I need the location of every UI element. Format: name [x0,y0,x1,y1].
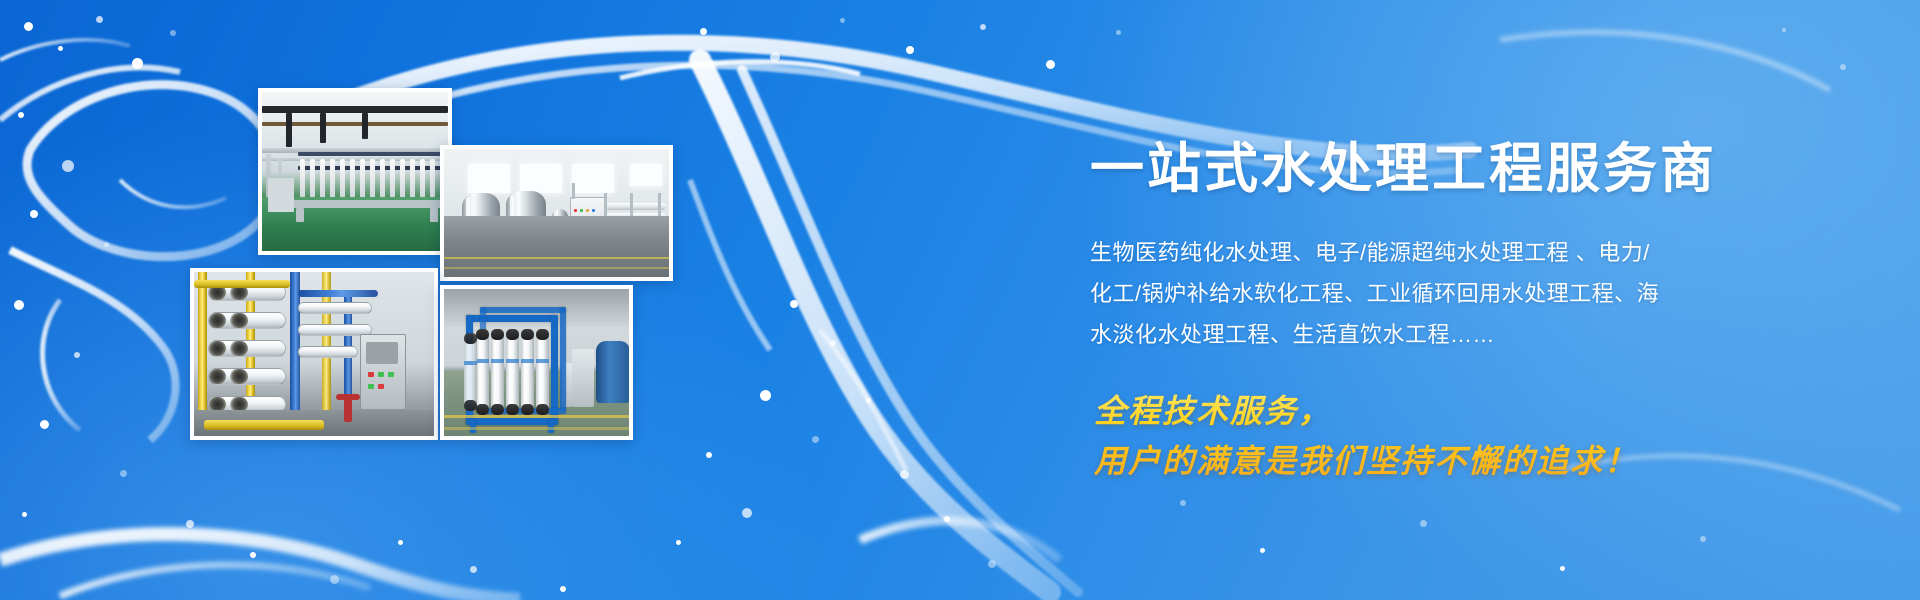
photo-membrane-rack[interactable] [190,268,438,440]
banner-slogan: 全程技术服务， 用户的满意是我们坚持不懈的追求！ [1094,386,1638,486]
description-line: 水淡化水处理工程、生活直饮水工程…… [1090,314,1670,355]
description-line: 生物医药纯化水处理、电子/能源超纯水处理工程 、电力/ [1090,232,1670,273]
water-droplet [980,24,986,30]
slogan-line-2: 用户的满意是我们坚持不懈的追求！ [1094,436,1638,486]
water-droplet [988,560,996,568]
banner-headline: 一站式水处理工程服务商 [1090,140,1717,199]
banner-text-block: 一站式水处理工程服务商 生物医药纯化水处理、电子/能源超纯水处理工程 、电力/ … [1090,0,1870,600]
banner-description: 生物医药纯化水处理、电子/能源超纯水处理工程 、电力/ 化工/锅炉补给水软化工程… [1090,232,1670,355]
slogan-line-1: 全程技术服务， [1094,393,1332,429]
water-droplet [900,470,909,479]
photo-uf-skid[interactable] [440,285,633,440]
photo-ro-tanks-workshop[interactable] [440,145,673,281]
photo-collage [0,0,880,600]
water-droplet [1046,60,1055,69]
water-treatment-banner: 一站式水处理工程服务商 生物医药纯化水处理、电子/能源超纯水处理工程 、电力/ … [0,0,1920,600]
description-line: 化工/锅炉补给水软化工程、工业循环回用水处理工程、海 [1090,273,1670,314]
water-droplet [906,46,914,54]
water-droplet [944,516,950,522]
photo-ultrafiltration-hall[interactable] [258,88,452,255]
